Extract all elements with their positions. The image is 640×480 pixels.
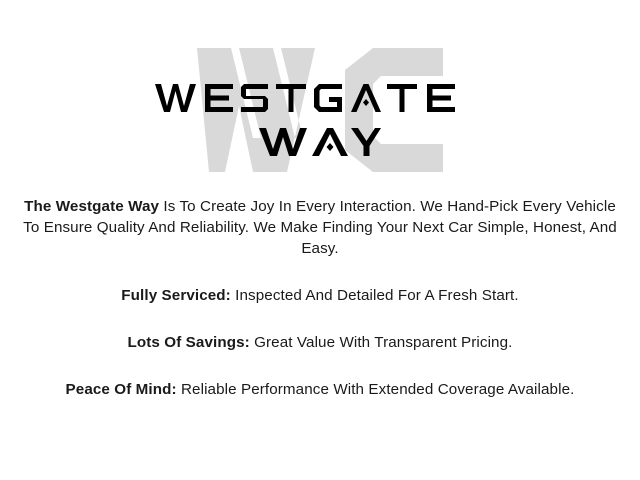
brand-wordmark-line-way bbox=[0, 124, 640, 160]
feature-lead: Fully Serviced: bbox=[121, 287, 231, 304]
brand-lockup bbox=[0, 0, 640, 175]
body-copy: The Westgate Way Is To Create Joy In Eve… bbox=[0, 196, 640, 400]
feature-fully-serviced: Fully Serviced: Inspected And Detailed F… bbox=[12, 285, 628, 306]
intro-lead: The Westgate Way bbox=[24, 198, 159, 215]
intro-paragraph: The Westgate Way Is To Create Joy In Eve… bbox=[12, 196, 628, 259]
feature-peace-of-mind: Peace Of Mind: Reliable Performance With… bbox=[12, 379, 628, 400]
westgate-way-promo-panel: The Westgate Way Is To Create Joy In Eve… bbox=[0, 0, 640, 480]
brand-wordmark-line-westgate bbox=[0, 78, 640, 118]
brand-wordmark bbox=[0, 0, 640, 160]
feature-text: Great Value With Transparent Pricing. bbox=[250, 334, 513, 351]
feature-lots-of-savings: Lots Of Savings: Great Value With Transp… bbox=[12, 332, 628, 353]
feature-lead: Lots Of Savings: bbox=[128, 334, 250, 351]
feature-text: Inspected And Detailed For A Fresh Start… bbox=[231, 287, 519, 304]
feature-lead: Peace Of Mind: bbox=[66, 381, 177, 398]
feature-text: Reliable Performance With Extended Cover… bbox=[177, 381, 575, 398]
